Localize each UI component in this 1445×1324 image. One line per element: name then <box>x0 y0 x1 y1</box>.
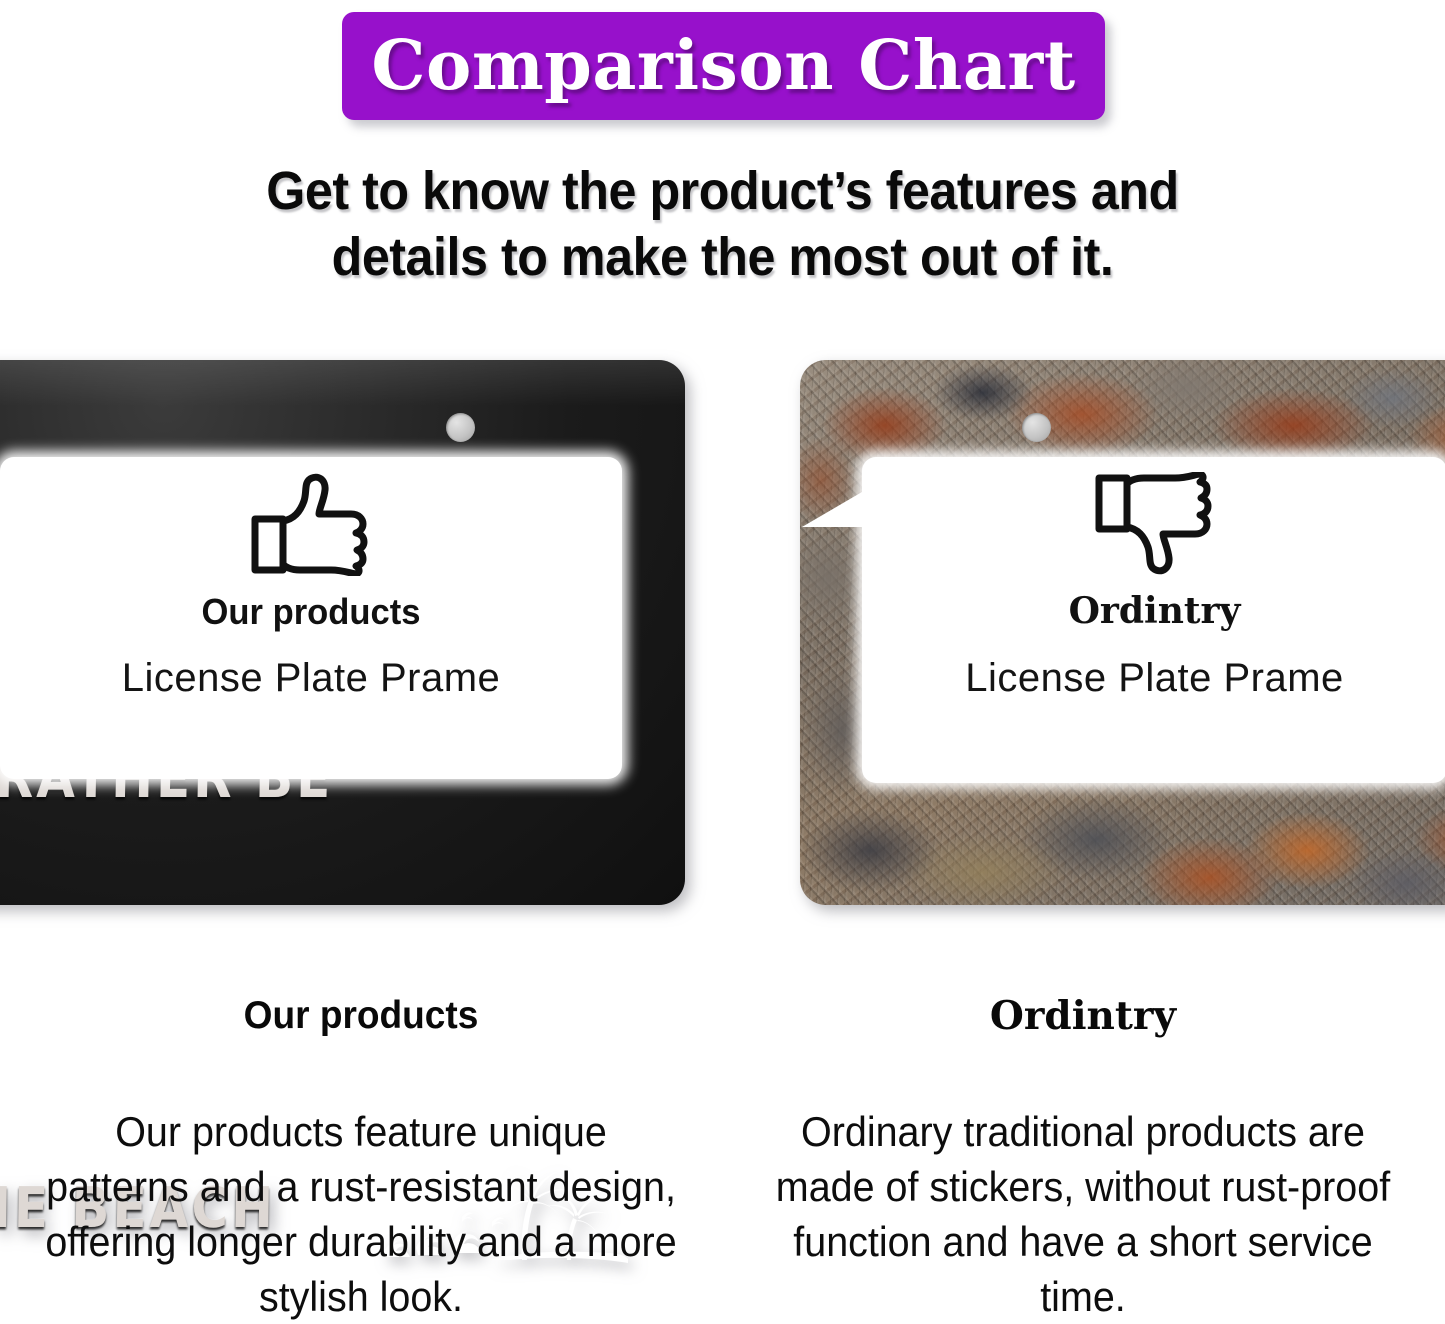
mount-hole-icon <box>1022 413 1051 442</box>
frame-sheen-overlay <box>0 360 685 406</box>
frame-content-ours: Our products License Plate Prame <box>0 472 622 701</box>
frame-sublabel-ours: License Plate Prame <box>0 656 622 701</box>
mount-hole-icon <box>446 413 475 442</box>
product-frames-row: D RATHER BE THE BEACH <box>0 360 1445 920</box>
thumbs-down-icon <box>1094 472 1216 576</box>
description-heading-ordinary: Ordintry <box>744 995 1422 1038</box>
license-plate-frame-ordinary: Ordintry License Plate Prame <box>800 360 1445 905</box>
description-body-ours: Our products feature unique patterns and… <box>42 1104 679 1324</box>
thumbs-up-icon <box>250 472 372 576</box>
license-plate-frame-ours: D RATHER BE THE BEACH <box>0 360 685 905</box>
description-heading-ours: Our products <box>39 995 683 1038</box>
frame-label-ours: Our products <box>12 592 609 632</box>
subtitle-line-1: Get to know the product’s features and <box>51 158 1395 224</box>
frame-label-ordinary: Ordintry <box>862 592 1445 632</box>
page-title: Comparison Chart <box>371 32 1075 100</box>
description-column-ours: Our products Our products feature unique… <box>0 995 722 1324</box>
description-column-ordinary: Ordintry Ordinary traditional products a… <box>722 995 1444 1324</box>
comparison-chart-banner: Comparison Chart <box>342 12 1105 120</box>
comparison-description-row: Our products Our products feature unique… <box>0 995 1445 1324</box>
description-body-ordinary: Ordinary traditional products are made o… <box>764 1104 1401 1324</box>
subtitle-line-2: details to make the most out of it. <box>51 224 1395 290</box>
page-subtitle: Get to know the product’s features and d… <box>51 158 1395 290</box>
frame-sublabel-ordinary: License Plate Prame <box>862 656 1445 701</box>
frame-content-ordinary: Ordintry License Plate Prame <box>862 472 1445 701</box>
